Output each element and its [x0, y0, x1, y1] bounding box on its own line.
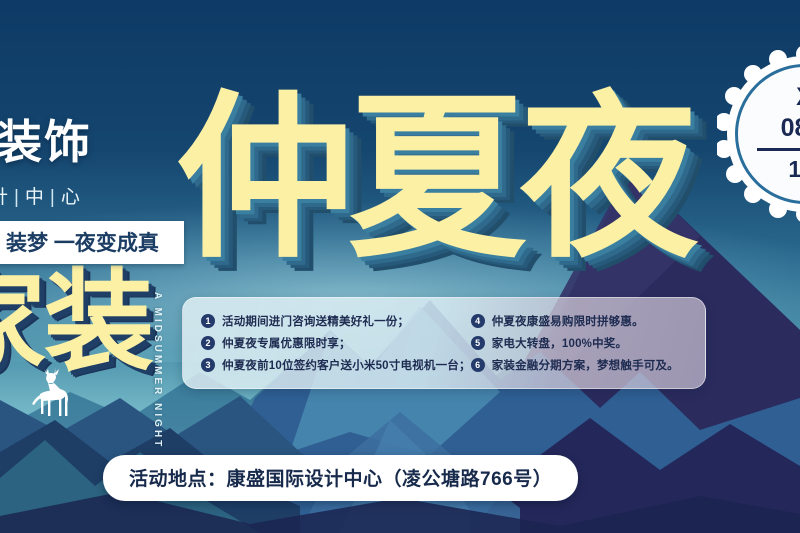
list-item: 2 仲夏夜专属优惠限时享； — [201, 335, 471, 351]
offers-column-right: 4 仲夏夜康盛易购限时拼够惠。 5 家电大转盘，100%中奖。 6 家装金融分期… — [471, 313, 693, 373]
brand-sub-char-1: 計 — [0, 187, 14, 208]
offer-number: 5 — [471, 336, 485, 350]
list-item: 4 仲夏夜康盛易购限时拼够惠。 — [471, 313, 693, 329]
date-badge: X 08/2 18: — [717, 46, 800, 222]
poster-canvas: 家装 盛装饰 設|計|中|心 装梦 一夜变成真 仲夏夜 — [0, 0, 800, 533]
offer-text: 活动期间进门咨询送精美好礼一份； — [222, 313, 409, 329]
brand-sub-sep-2: | — [50, 187, 56, 208]
brand-tagline: 装梦 一夜变成真 — [0, 221, 184, 264]
offers-card: 1 活动期间进门咨询送精美好礼一份； 2 仲夏夜专属优惠限时享； 3 仲夏夜前1… — [182, 297, 706, 389]
offer-text: 家电大转盘，100%中奖。 — [492, 335, 628, 351]
offer-text: 仲夏夜专属优惠限时享； — [222, 335, 351, 351]
vertical-english-label: A MIDSUMMER NIGHT — [152, 292, 163, 449]
offer-number: 2 — [201, 336, 215, 350]
offer-number: 1 — [201, 314, 215, 328]
deer-icon — [28, 368, 74, 425]
offers-column-left: 1 活动期间进门咨询送精美好礼一份； 2 仲夏夜专属优惠限时享； 3 仲夏夜前1… — [201, 313, 471, 373]
offer-text: 仲夏夜前10位签约客户送小米50寸电视机一台； — [222, 357, 471, 373]
badge-date: 08/2 — [781, 114, 800, 143]
list-item: 5 家电大转盘，100%中奖。 — [471, 335, 693, 351]
list-item: 1 活动期间进门咨询送精美好礼一份； — [201, 313, 471, 329]
offer-number: 6 — [471, 358, 485, 372]
brand-block: 盛装饰 設|計|中|心 装梦 一夜变成真 — [0, 118, 196, 264]
offer-text: 家装金融分期方案，梦想触手可及。 — [492, 357, 679, 373]
badge-divider — [757, 148, 800, 151]
brand-sub-char-3: 心 — [56, 187, 86, 208]
badge-top-text: X — [796, 85, 800, 110]
side-word: 家装 — [0, 268, 152, 378]
list-item: 3 仲夏夜前10位签约客户送小米50寸电视机一台； — [201, 357, 471, 373]
badge-time: 18: — [788, 156, 800, 183]
brand-subtitle: 設|計|中|心 — [0, 182, 196, 209]
offer-number: 3 — [201, 358, 215, 372]
brand-name: 盛装饰 — [0, 118, 196, 166]
location-pill: 活动地点：康盛国际设计中心（凌公塘路766号） — [103, 455, 578, 501]
page-title: 仲夏夜 — [176, 92, 692, 266]
brand-sub-char-2: 中 — [20, 187, 50, 208]
offer-number: 4 — [471, 314, 485, 328]
offer-text: 仲夏夜康盛易购限时拼够惠。 — [492, 313, 644, 329]
list-item: 6 家装金融分期方案，梦想触手可及。 — [471, 357, 693, 373]
